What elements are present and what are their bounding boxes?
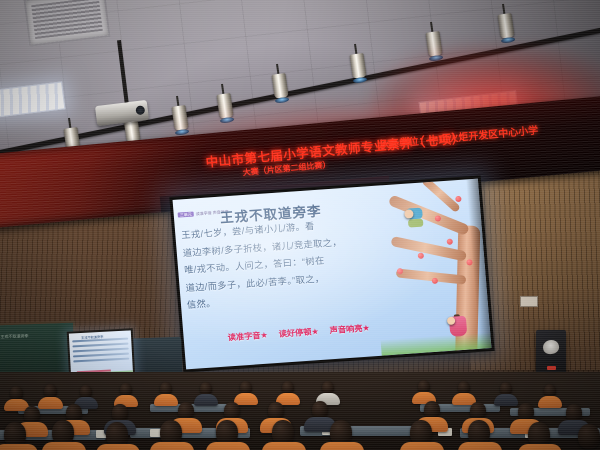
student-shoulders	[38, 397, 63, 409]
student-shoulders	[234, 393, 258, 405]
tree-branch-icon	[396, 268, 467, 284]
speaker-cone-icon	[542, 339, 560, 356]
cue-pausing: 读好停顿★	[278, 327, 319, 339]
student-shoulders	[400, 442, 444, 450]
tree-branch-icon	[390, 236, 467, 262]
blackboard-chalk-text: 王戎不取道旁李	[0, 333, 28, 340]
cue-pronunciation: 读准字音★	[227, 331, 268, 343]
plum-fruit-icon	[418, 253, 424, 259]
grass-ground	[380, 332, 491, 356]
student-shoulders	[206, 442, 250, 450]
student-shoulders	[518, 444, 562, 450]
student-shoulders	[538, 396, 562, 408]
student-shoulders	[494, 394, 518, 406]
boy-in-tree-figure	[404, 208, 426, 235]
student-shoulders	[194, 394, 218, 406]
student-shoulders	[96, 444, 140, 450]
slide-tag-badge: 三单元	[178, 212, 194, 218]
student-shoulders	[262, 442, 306, 450]
student-shoulders	[42, 442, 86, 450]
wall-outlet-box	[520, 296, 538, 307]
student-head	[578, 424, 600, 449]
classroom-photo: 中山市第七届小学语文教师专业素养（七项） 大赛（片区第二组比赛） 承办单位：中山…	[0, 0, 600, 450]
projection-screen: 三单元读准字音 声音洪亮 王戎不取道旁李 王戎/七岁，尝/与诸小儿/游。看 道边…	[173, 179, 492, 370]
cue-volume: 声音响亮★	[329, 324, 370, 336]
student-shoulders	[150, 442, 194, 450]
student-shoulders	[320, 442, 364, 450]
slide-reading-cues: 读准字音★读好停顿★声音响亮★	[227, 317, 381, 346]
plum-fruit-icon	[455, 196, 461, 202]
student-shoulders	[154, 394, 178, 406]
student-shoulders	[0, 444, 38, 450]
plum-fruit-icon	[432, 278, 438, 284]
student-shoulders	[458, 442, 502, 450]
projection-screen-frame: 三单元读准字音 声音洪亮 王戎不取道旁李 王戎/七岁，尝/与诸小儿/游。看 道边…	[169, 175, 494, 372]
audience	[0, 360, 600, 450]
plum-fruit-icon	[447, 239, 453, 245]
